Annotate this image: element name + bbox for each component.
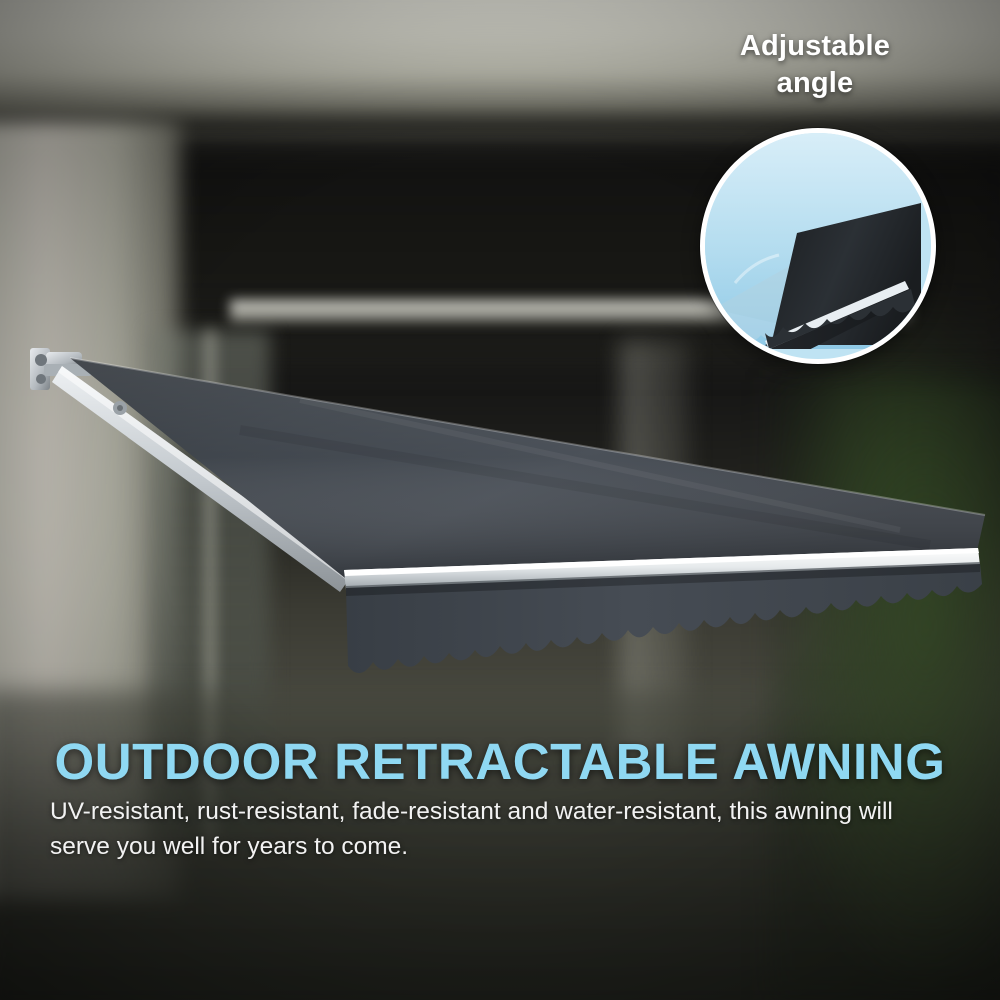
callout-title-line1: Adjustable — [660, 28, 970, 65]
product-marketing-image: Adjustable angle — [0, 0, 1000, 1000]
arm-joint — [113, 401, 127, 415]
awning-fabric — [70, 358, 985, 578]
callout-title: Adjustable angle — [660, 28, 970, 102]
adjustable-angle-callout — [700, 128, 936, 364]
page-subtext: UV-resistant, rust-resistant, fade-resis… — [50, 795, 950, 865]
page-headline: OUTDOOR RETRACTABLE AWNING — [0, 732, 1000, 791]
callout-title-line2: angle — [660, 65, 970, 102]
callout-zoom-illustration — [705, 133, 921, 349]
